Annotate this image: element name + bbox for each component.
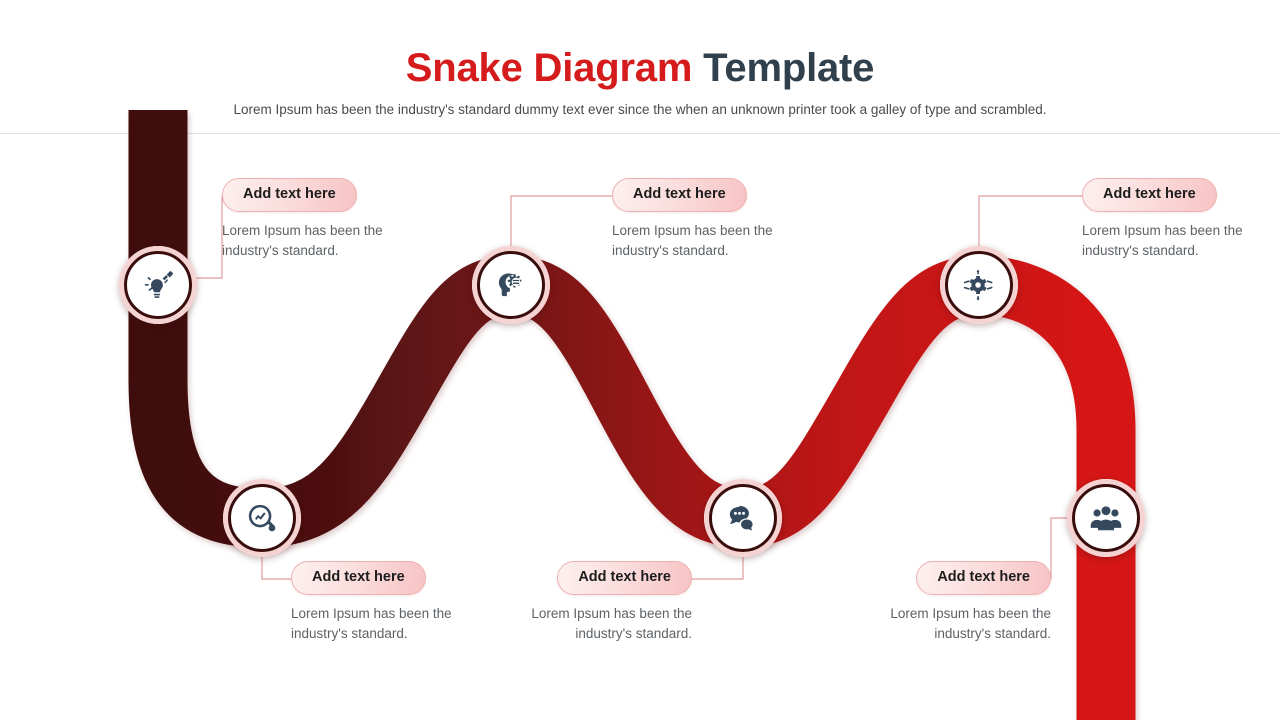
snake-diagram: Add text here Lorem Ipsum has been the i… <box>0 0 1280 720</box>
step-description-5: Lorem Ipsum has been the industry's stan… <box>492 604 692 645</box>
people-group-icon <box>1089 501 1123 535</box>
step-label-2[interactable]: Add text here <box>612 178 747 212</box>
step-callout-2: Add text here Lorem Ipsum has been the i… <box>612 178 812 262</box>
step-description-2: Lorem Ipsum has been the industry's stan… <box>612 221 812 262</box>
step-callout-3: Add text here Lorem Ipsum has been the i… <box>1082 178 1280 262</box>
step-label-1[interactable]: Add text here <box>222 178 357 212</box>
step-label-4[interactable]: Add text here <box>291 561 426 595</box>
slide-canvas: Snake Diagram Template Lorem Ipsum has b… <box>0 0 1280 720</box>
chat-bubbles-icon <box>726 501 760 535</box>
step-description-4: Lorem Ipsum has been the industry's stan… <box>291 604 491 645</box>
lightbulb-idea-icon <box>141 268 175 302</box>
step-node-6[interactable] <box>1067 479 1145 557</box>
head-gear-icon <box>494 268 528 302</box>
step-node-5[interactable] <box>704 479 782 557</box>
step-label-6[interactable]: Add text here <box>916 561 1051 595</box>
step-callout-5: Add text here Lorem Ipsum has been the i… <box>492 561 692 645</box>
gear-rays-icon <box>962 268 996 302</box>
step-callout-6: Add text here Lorem Ipsum has been the i… <box>851 561 1051 645</box>
step-description-3: Lorem Ipsum has been the industry's stan… <box>1082 221 1280 262</box>
step-callout-4: Add text here Lorem Ipsum has been the i… <box>291 561 491 645</box>
step-callout-1: Add text here Lorem Ipsum has been the i… <box>222 178 422 262</box>
magnifier-chart-icon <box>245 501 279 535</box>
step-node-2[interactable] <box>472 246 550 324</box>
step-node-4[interactable] <box>223 479 301 557</box>
step-label-5[interactable]: Add text here <box>557 561 692 595</box>
step-node-3[interactable] <box>940 246 1018 324</box>
step-description-1: Lorem Ipsum has been the industry's stan… <box>222 221 422 262</box>
step-label-3[interactable]: Add text here <box>1082 178 1217 212</box>
step-node-1[interactable] <box>119 246 197 324</box>
step-description-6: Lorem Ipsum has been the industry's stan… <box>851 604 1051 645</box>
